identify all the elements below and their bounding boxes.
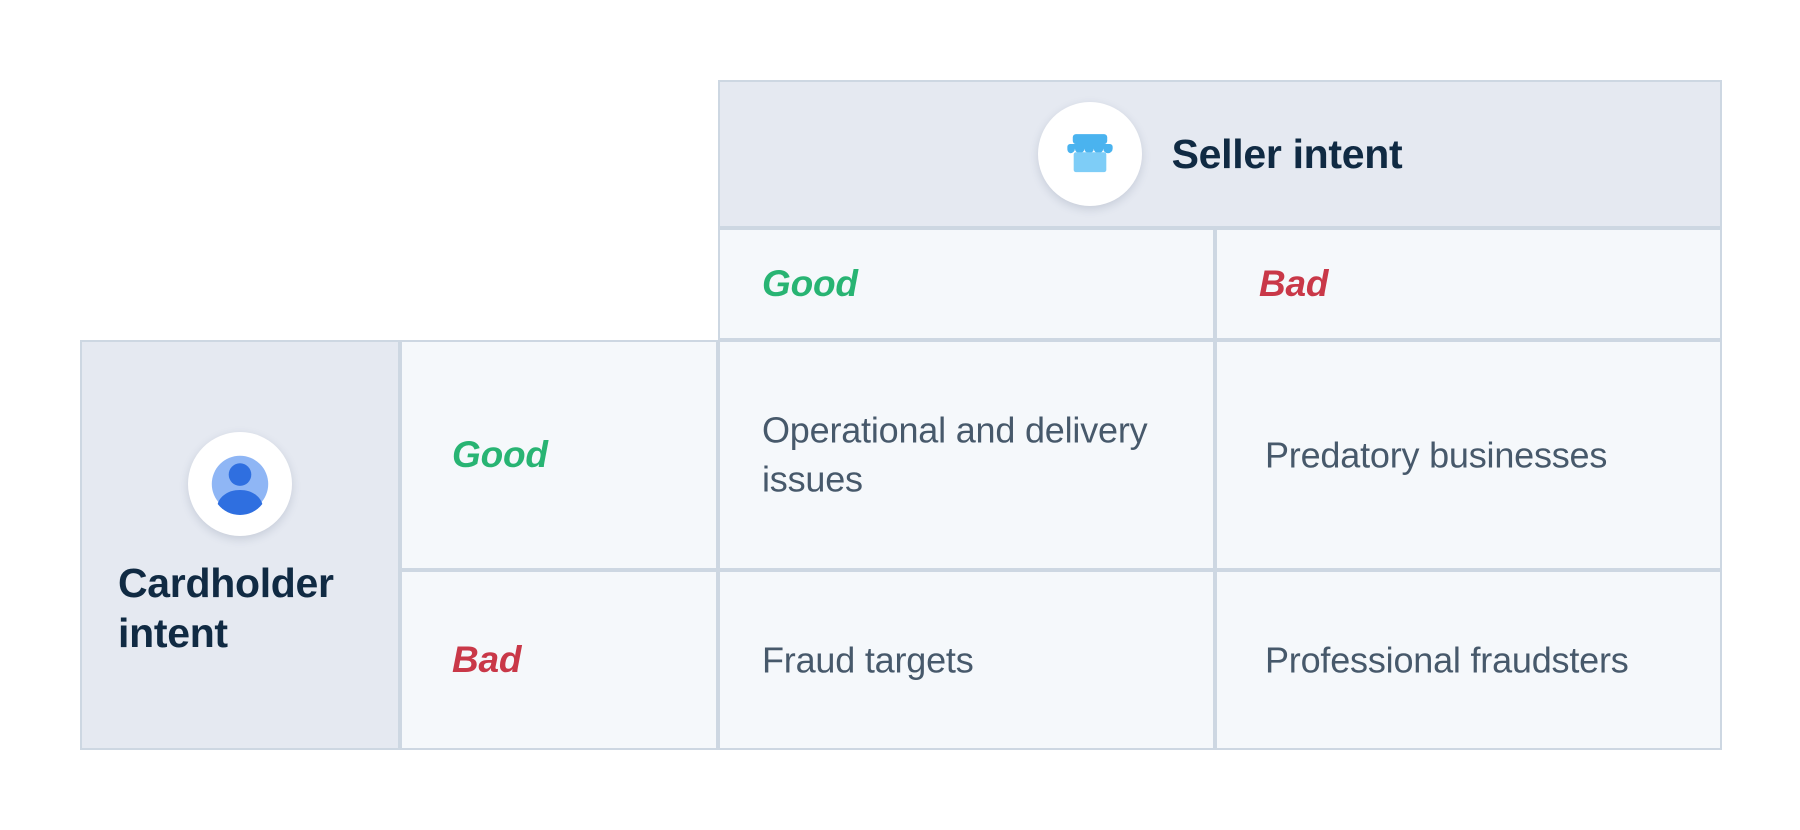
column-header-bad-label: Bad [1259,263,1328,305]
column-axis-header: Seller intent [718,80,1722,228]
row-header-bad: Bad [400,570,718,750]
matrix-cell-text: Operational and delivery issues [762,406,1187,505]
column-axis-title: Seller intent [1172,131,1403,178]
column-header-bad: Bad [1215,228,1722,340]
matrix-cell-bad-bad: Professional fraudsters [1215,570,1722,750]
column-header-good-label: Good [762,263,858,305]
matrix-cell-text: Predatory businesses [1265,430,1694,479]
column-axis-header-inner: Seller intent [1038,102,1403,206]
intent-matrix: Seller intent Good Bad Cardholder intent… [0,0,1800,830]
person-avatar-icon [188,432,292,536]
row-header-good-label: Good [452,434,548,476]
matrix-cell-text: Fraud targets [762,635,1187,684]
matrix-cell-text: Professional fraudsters [1265,635,1694,684]
storefront-icon [1038,102,1142,206]
row-axis-header: Cardholder intent [80,340,400,750]
row-header-good: Good [400,340,718,570]
column-header-good: Good [718,228,1215,340]
matrix-cell-good-good: Operational and delivery issues [718,340,1215,570]
row-header-bad-label: Bad [452,639,521,681]
matrix-cell-bad-good: Fraud targets [718,570,1215,750]
row-axis-title: Cardholder intent [82,558,398,658]
matrix-cell-good-bad: Predatory businesses [1215,340,1722,570]
